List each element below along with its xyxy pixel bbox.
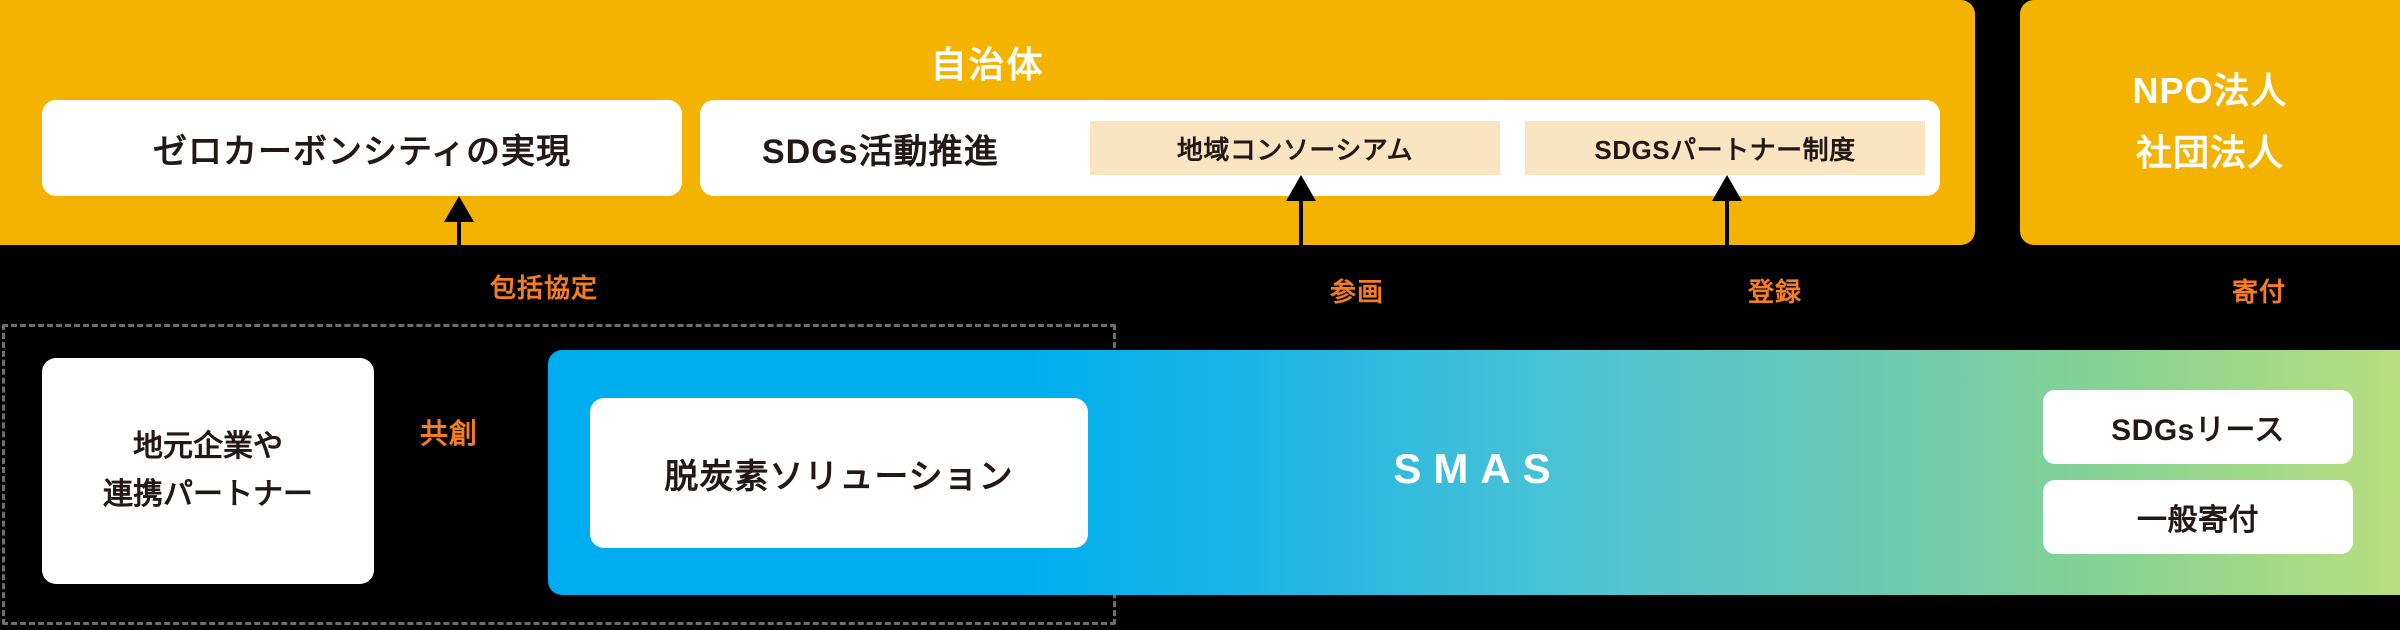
chip-regional-consortium[interactable]: 地域コンソーシアム [1090,121,1500,175]
npo-line-1: NPO法人 [2020,60,2400,122]
npo-line-2: 社団法人 [2020,122,2400,184]
chip-sdgs-partner-system-label: SDGSパートナー制度 [1594,130,1855,167]
connector-label-kyoso: 共創 [420,412,478,452]
card-zero-carbon-city-label: ゼロカーボンシティの実現 [153,124,571,173]
government-panel: 自治体 ゼロカーボンシティの実現 SDGs活動推進 地域コンソーシアム SDGS… [0,0,1975,245]
card-local-partner-line-2: 連携パートナー [103,471,313,519]
card-local-partner-line-1: 地元企業や [133,423,283,471]
card-decarbonization-solution[interactable]: 脱炭素ソリューション [590,398,1088,548]
npo-panel: NPO法人 社団法人 [2020,0,2400,245]
card-decarbonization-solution-label: 脱炭素ソリューション [664,449,1013,498]
chip-general-donation-label: 一般寄付 [2137,495,2259,539]
arrow-shaft [1725,197,1729,246]
arrow-up-icon-houkatsu [444,196,474,246]
connector-label-touroku: 登録 [1748,272,1802,309]
smas-title: SMAS [1148,445,1808,493]
connector-label-kifu: 寄付 [2232,272,2286,309]
card-zero-carbon-city[interactable]: ゼロカーボンシティの実現 [42,100,682,196]
arrow-up-icon-touroku [1712,175,1742,246]
arrow-shaft [1299,197,1303,246]
arrow-up-icon-sankaku [1286,175,1316,246]
government-panel-title: 自治体 [0,36,1975,88]
card-local-partner[interactable]: 地元企業や 連携パートナー [42,358,374,584]
chip-sdgs-lease[interactable]: SDGsリース [2043,390,2353,464]
diagram-canvas: 自治体 ゼロカーボンシティの実現 SDGs活動推進 地域コンソーシアム SDGS… [0,0,2400,630]
chip-sdgs-lease-label: SDGsリース [2111,405,2285,449]
npo-panel-title: NPO法人 社団法人 [2020,60,2400,184]
connector-label-sankaku: 参画 [1330,272,1384,309]
smas-platform-bar: 脱炭素ソリューション SMAS SDGsリース 一般寄付 [548,350,2400,595]
chip-general-donation[interactable]: 一般寄付 [2043,480,2353,554]
smas-title-wrap: SMAS [1148,350,1808,595]
chip-sdgs-partner-system[interactable]: SDGSパートナー制度 [1525,121,1925,175]
card-sdgs-activity-label: SDGs活動推進 [762,124,999,173]
chip-regional-consortium-label: 地域コンソーシアム [1177,130,1413,167]
connector-label-houkatsu: 包括協定 [490,268,598,305]
arrow-shaft [457,218,461,246]
